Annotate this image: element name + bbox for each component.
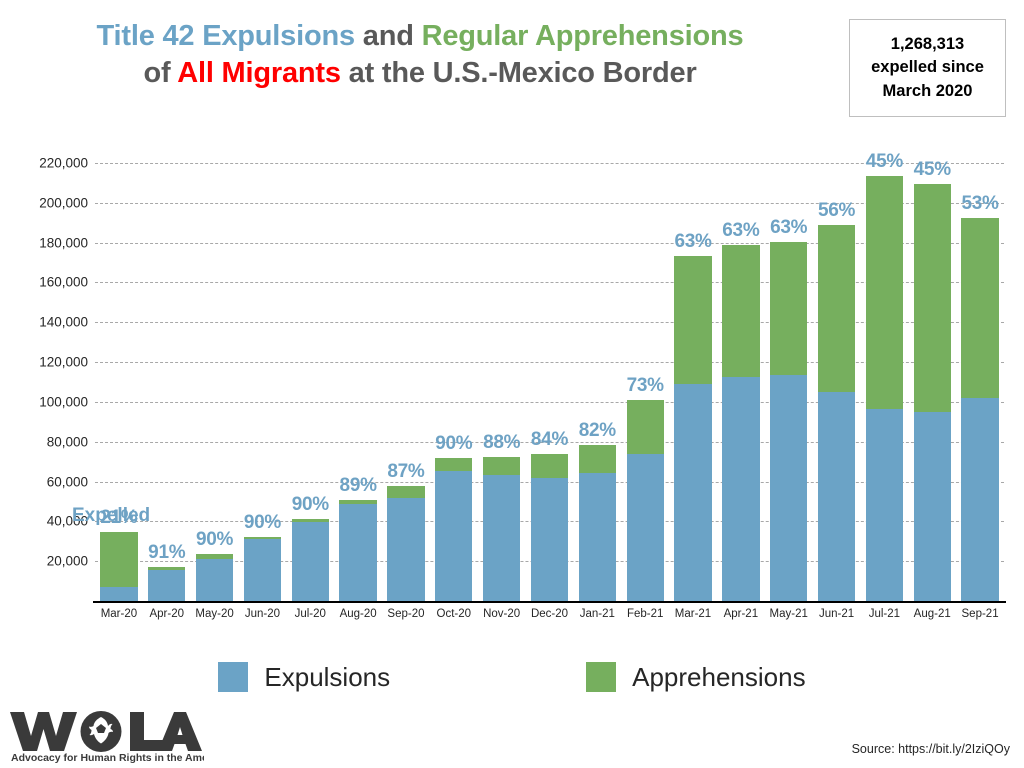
bar-jan-21[interactable] [579, 445, 616, 601]
bar-segment-expulsions[interactable] [148, 570, 185, 601]
y-axis-tick-label: 80,000 [0, 434, 88, 449]
y-axis-tick-label: 140,000 [0, 315, 88, 330]
x-axis-tick-label: Feb-21 [618, 608, 672, 620]
bar-segment-expulsions[interactable] [722, 377, 759, 601]
wola-logo: Advocacy for Human Rights in the America… [8, 706, 204, 764]
bar-value-label: 91% [140, 542, 193, 564]
bar-segment-expulsions[interactable] [100, 587, 137, 601]
bar-series-container: 21%91%90%90%90%89%87%90%88%84%82%73%63%6… [95, 163, 1004, 601]
bar-aug-21[interactable] [914, 184, 951, 601]
chart-legend: Expulsions Apprehensions [0, 653, 1024, 701]
x-axis-tick-label: Mar-20 [92, 608, 146, 620]
bar-segment-apprehensions[interactable] [818, 225, 855, 392]
bar-mar-21[interactable] [674, 256, 711, 601]
bar-value-label: 89% [331, 475, 384, 497]
bar-segment-apprehensions[interactable] [579, 445, 616, 473]
bar-jun-20[interactable] [244, 537, 281, 601]
bar-segment-expulsions[interactable] [339, 504, 376, 601]
bar-value-label: 63% [714, 220, 767, 242]
x-axis-tick-label: May-20 [188, 608, 242, 620]
bar-segment-expulsions[interactable] [914, 412, 951, 601]
y-axis-tick-label: 200,000 [0, 195, 88, 210]
x-axis-tick-label: Aug-21 [905, 608, 959, 620]
bar-segment-expulsions[interactable] [435, 471, 472, 601]
title-segment-all-migrants: All Migrants [177, 57, 341, 89]
bar-value-label: 88% [475, 432, 528, 454]
bar-value-label: 90% [284, 494, 337, 516]
bar-segment-apprehensions[interactable] [914, 184, 951, 412]
bar-segment-expulsions[interactable] [244, 539, 281, 601]
bar-value-label: 56% [810, 200, 863, 222]
bar-apr-20[interactable] [148, 567, 185, 601]
y-axis-tick-label: 180,000 [0, 235, 88, 250]
title-segment-border: at the U.S.-Mexico Border [341, 57, 697, 89]
x-axis-tick-label: Sep-21 [953, 608, 1007, 620]
x-axis-tick-label: Sep-20 [379, 608, 433, 620]
callout-number: 1,268,313 [891, 33, 964, 56]
y-axis-tick-label: 20,000 [0, 554, 88, 569]
x-axis-tick-label: Aug-20 [331, 608, 385, 620]
title-segment-of: of [143, 57, 177, 89]
x-axis-tick-label: Jun-21 [810, 608, 864, 620]
bar-segment-apprehensions[interactable] [483, 457, 520, 475]
bar-value-label: 63% [762, 217, 815, 239]
bar-segment-apprehensions[interactable] [961, 218, 998, 398]
page-title: Title 42 Expulsions and Regular Apprehen… [0, 18, 840, 92]
bar-value-label: 87% [379, 461, 432, 483]
x-axis-labels: Mar-20Apr-20May-20Jun-20Jul-20Aug-20Sep-… [95, 608, 1004, 632]
legend-label-expulsions: Expulsions [264, 662, 390, 693]
bar-segment-expulsions[interactable] [579, 473, 616, 601]
title-line-2: of All Migrants at the U.S.-Mexico Borde… [0, 55, 840, 92]
legend-swatch-expulsions [218, 662, 248, 692]
x-axis-tick-label: Apr-21 [714, 608, 768, 620]
bar-segment-expulsions[interactable] [292, 522, 329, 601]
title-segment-expulsions: Title 42 Expulsions [97, 20, 355, 52]
expelled-annotation: Expelled [72, 505, 150, 527]
bar-segment-expulsions[interactable] [483, 475, 520, 601]
bar-value-label: 90% [427, 433, 480, 455]
y-axis-tick-label: 100,000 [0, 394, 88, 409]
title-line-1: Title 42 Expulsions and Regular Apprehen… [0, 18, 840, 55]
callout-box: 1,268,313 expelled since March 2020 [849, 19, 1006, 117]
source-text: Source: https://bit.ly/2IziQOy [852, 742, 1010, 756]
bar-segment-expulsions[interactable] [961, 398, 998, 601]
bar-segment-apprehensions[interactable] [387, 486, 424, 499]
x-axis-line [93, 601, 1006, 603]
bar-segment-expulsions[interactable] [387, 498, 424, 601]
bar-segment-expulsions[interactable] [770, 375, 807, 601]
bar-mar-20[interactable] [100, 532, 137, 601]
bar-may-20[interactable] [196, 554, 233, 601]
bar-nov-20[interactable] [483, 457, 520, 601]
y-axis-tick-label: 160,000 [0, 275, 88, 290]
title-segment-and: and [355, 20, 422, 52]
bar-value-label: 53% [953, 193, 1006, 215]
x-axis-tick-label: Oct-20 [427, 608, 481, 620]
bar-aug-20[interactable] [339, 500, 376, 601]
bar-value-label: 84% [523, 429, 576, 451]
y-axis-tick-label: 120,000 [0, 355, 88, 370]
bar-jul-20[interactable] [292, 519, 329, 601]
x-axis-tick-label: Jul-20 [283, 608, 337, 620]
x-axis-tick-label: Dec-20 [523, 608, 577, 620]
bar-segment-expulsions[interactable] [866, 409, 903, 601]
bar-segment-apprehensions[interactable] [770, 242, 807, 375]
bar-value-label: 63% [666, 231, 719, 253]
bar-segment-expulsions[interactable] [818, 392, 855, 601]
bar-value-label: 45% [858, 151, 911, 173]
x-axis-tick-label: Nov-20 [475, 608, 529, 620]
bar-value-label: 90% [188, 529, 241, 551]
bar-dec-20[interactable] [531, 454, 568, 601]
bar-value-label: 82% [571, 420, 624, 442]
bar-sep-21[interactable] [961, 218, 998, 601]
bar-segment-apprehensions[interactable] [627, 400, 664, 454]
bar-segment-apprehensions[interactable] [674, 256, 711, 384]
legend-item-apprehensions: Apprehensions [586, 662, 805, 693]
bar-jul-21[interactable] [866, 176, 903, 601]
x-axis-tick-label: Jun-20 [236, 608, 290, 620]
legend-label-apprehensions: Apprehensions [632, 662, 805, 693]
bar-segment-expulsions[interactable] [196, 559, 233, 601]
bar-value-label: 90% [236, 512, 289, 534]
bar-segment-expulsions[interactable] [531, 478, 568, 601]
x-axis-tick-label: Jul-21 [857, 608, 911, 620]
bar-oct-20[interactable] [435, 458, 472, 601]
bar-segment-apprehensions[interactable] [435, 458, 472, 471]
legend-item-expulsions: Expulsions [218, 662, 390, 693]
wola-logo-icon: Advocacy for Human Rights in the America… [8, 706, 204, 764]
bar-segment-apprehensions[interactable] [866, 176, 903, 409]
callout-line-three: March 2020 [883, 80, 973, 103]
bar-may-21[interactable] [770, 242, 807, 601]
legend-swatch-apprehensions [586, 662, 616, 692]
x-axis-tick-label: Jan-21 [570, 608, 624, 620]
title-segment-apprehensions: Regular Apprehensions [422, 20, 744, 52]
x-axis-tick-label: May-21 [762, 608, 816, 620]
bar-feb-21[interactable] [627, 400, 664, 601]
bar-segment-apprehensions[interactable] [100, 532, 137, 587]
bar-segment-apprehensions[interactable] [531, 454, 568, 478]
x-axis-tick-label: Mar-21 [666, 608, 720, 620]
wola-logo-tagline: Advocacy for Human Rights in the America… [11, 752, 204, 764]
bar-value-label: 45% [906, 159, 959, 181]
x-axis-tick-label: Apr-20 [140, 608, 194, 620]
bar-segment-expulsions[interactable] [674, 384, 711, 601]
y-axis-tick-label: 60,000 [0, 474, 88, 489]
y-axis-tick-label: 220,000 [0, 156, 88, 171]
bar-jun-21[interactable] [818, 225, 855, 601]
bar-segment-apprehensions[interactable] [722, 245, 759, 377]
bar-apr-21[interactable] [722, 245, 759, 601]
callout-line-two: expelled since [871, 56, 984, 79]
bar-value-label: 73% [619, 375, 672, 397]
bar-sep-20[interactable] [387, 486, 424, 601]
bar-segment-expulsions[interactable] [627, 454, 664, 601]
